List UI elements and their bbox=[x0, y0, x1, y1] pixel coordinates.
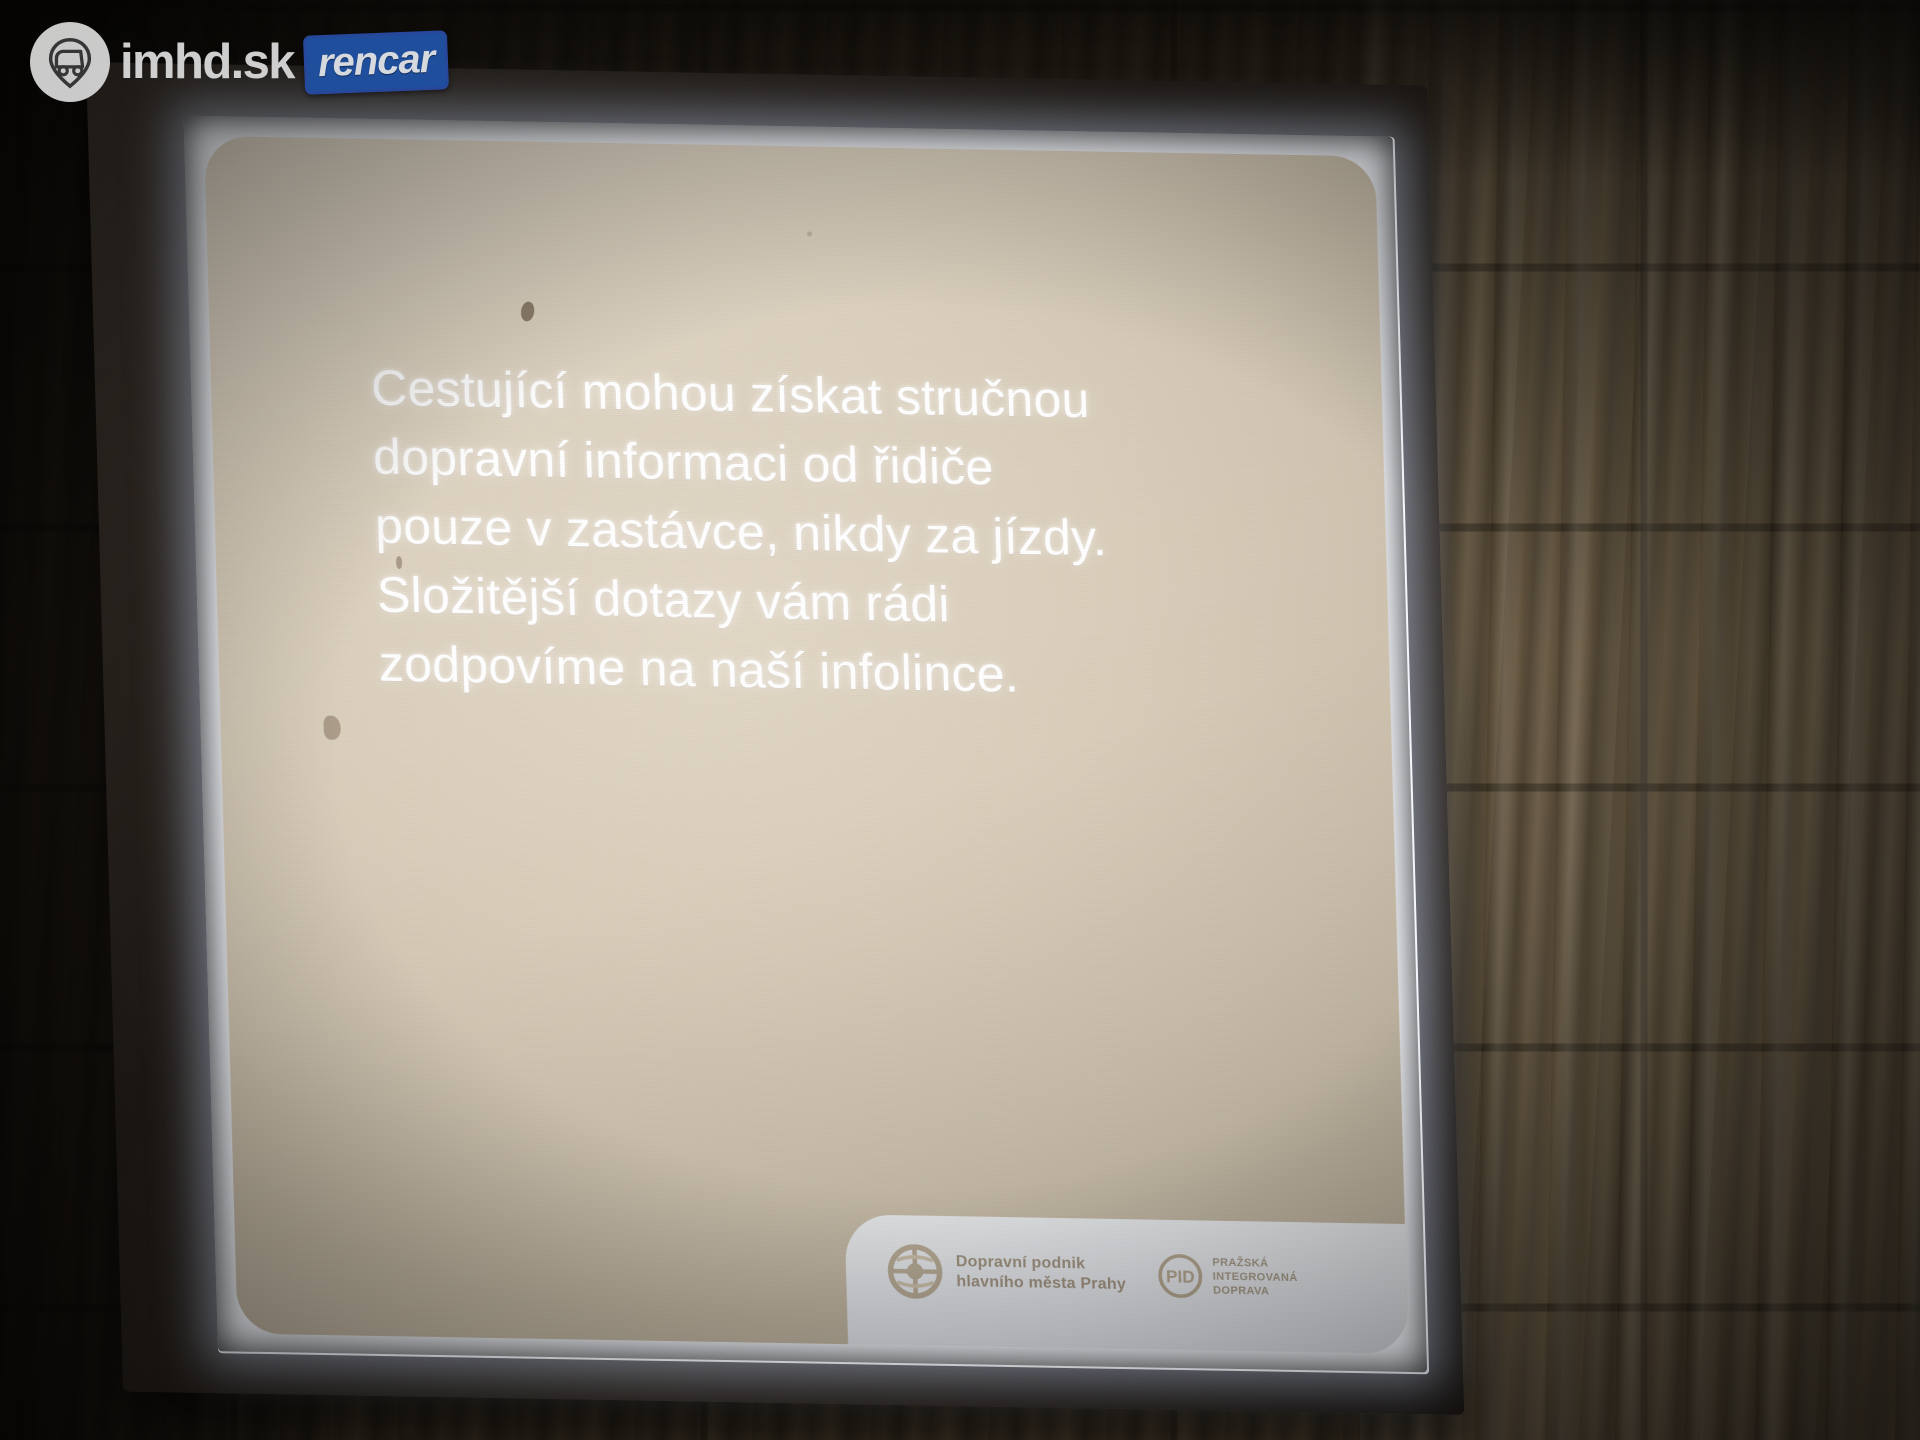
rencar-badge: rencar bbox=[303, 30, 449, 94]
imhd-site-name: imhd.sk bbox=[120, 34, 294, 90]
photo-canvas: Cestující mohou získat stručnou dopravní… bbox=[0, 0, 1920, 1440]
imhd-watermark: imhd.sk rencar bbox=[30, 22, 448, 102]
photo-vignette bbox=[0, 0, 1920, 1440]
imhd-location-pin-tram-icon bbox=[30, 22, 110, 102]
rencar-badge-label: rencar bbox=[317, 36, 435, 84]
